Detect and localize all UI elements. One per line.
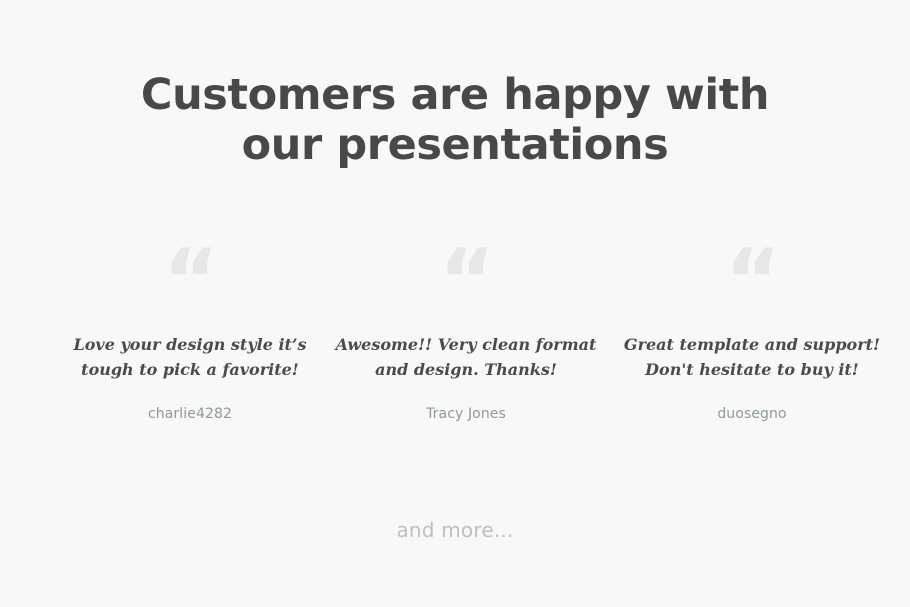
testimonial-quote: Great template and support! Don't hesita… <box>614 332 890 382</box>
testimonial-list: “ Love your design style it’s tough to p… <box>0 243 910 424</box>
quote-mark-icon: “ <box>52 243 328 319</box>
testimonial-author: Tracy Jones <box>328 404 604 424</box>
testimonial-card: “ Awesome!! Very clean format and design… <box>328 243 604 424</box>
testimonial-author: charlie4282 <box>52 404 328 424</box>
testimonial-card: “ Love your design style it’s tough to p… <box>52 243 328 424</box>
and-more-label: and more... <box>0 515 910 545</box>
testimonial-card: “ Great template and support! Don't hesi… <box>614 243 890 424</box>
testimonial-quote: Awesome!! Very clean format and design. … <box>328 332 604 382</box>
page-title: Customers are happy with our presentatio… <box>0 70 910 170</box>
quote-mark-icon: “ <box>328 243 604 319</box>
testimonial-author: duosegno <box>614 404 890 424</box>
quote-mark-icon: “ <box>614 243 890 319</box>
testimonial-quote: Love your design style it’s tough to pic… <box>52 332 328 382</box>
page-title-line-1: Customers are happy with <box>0 70 910 120</box>
testimonials-slide: Customers are happy with our presentatio… <box>0 0 910 607</box>
page-title-line-2: our presentations <box>0 120 910 170</box>
